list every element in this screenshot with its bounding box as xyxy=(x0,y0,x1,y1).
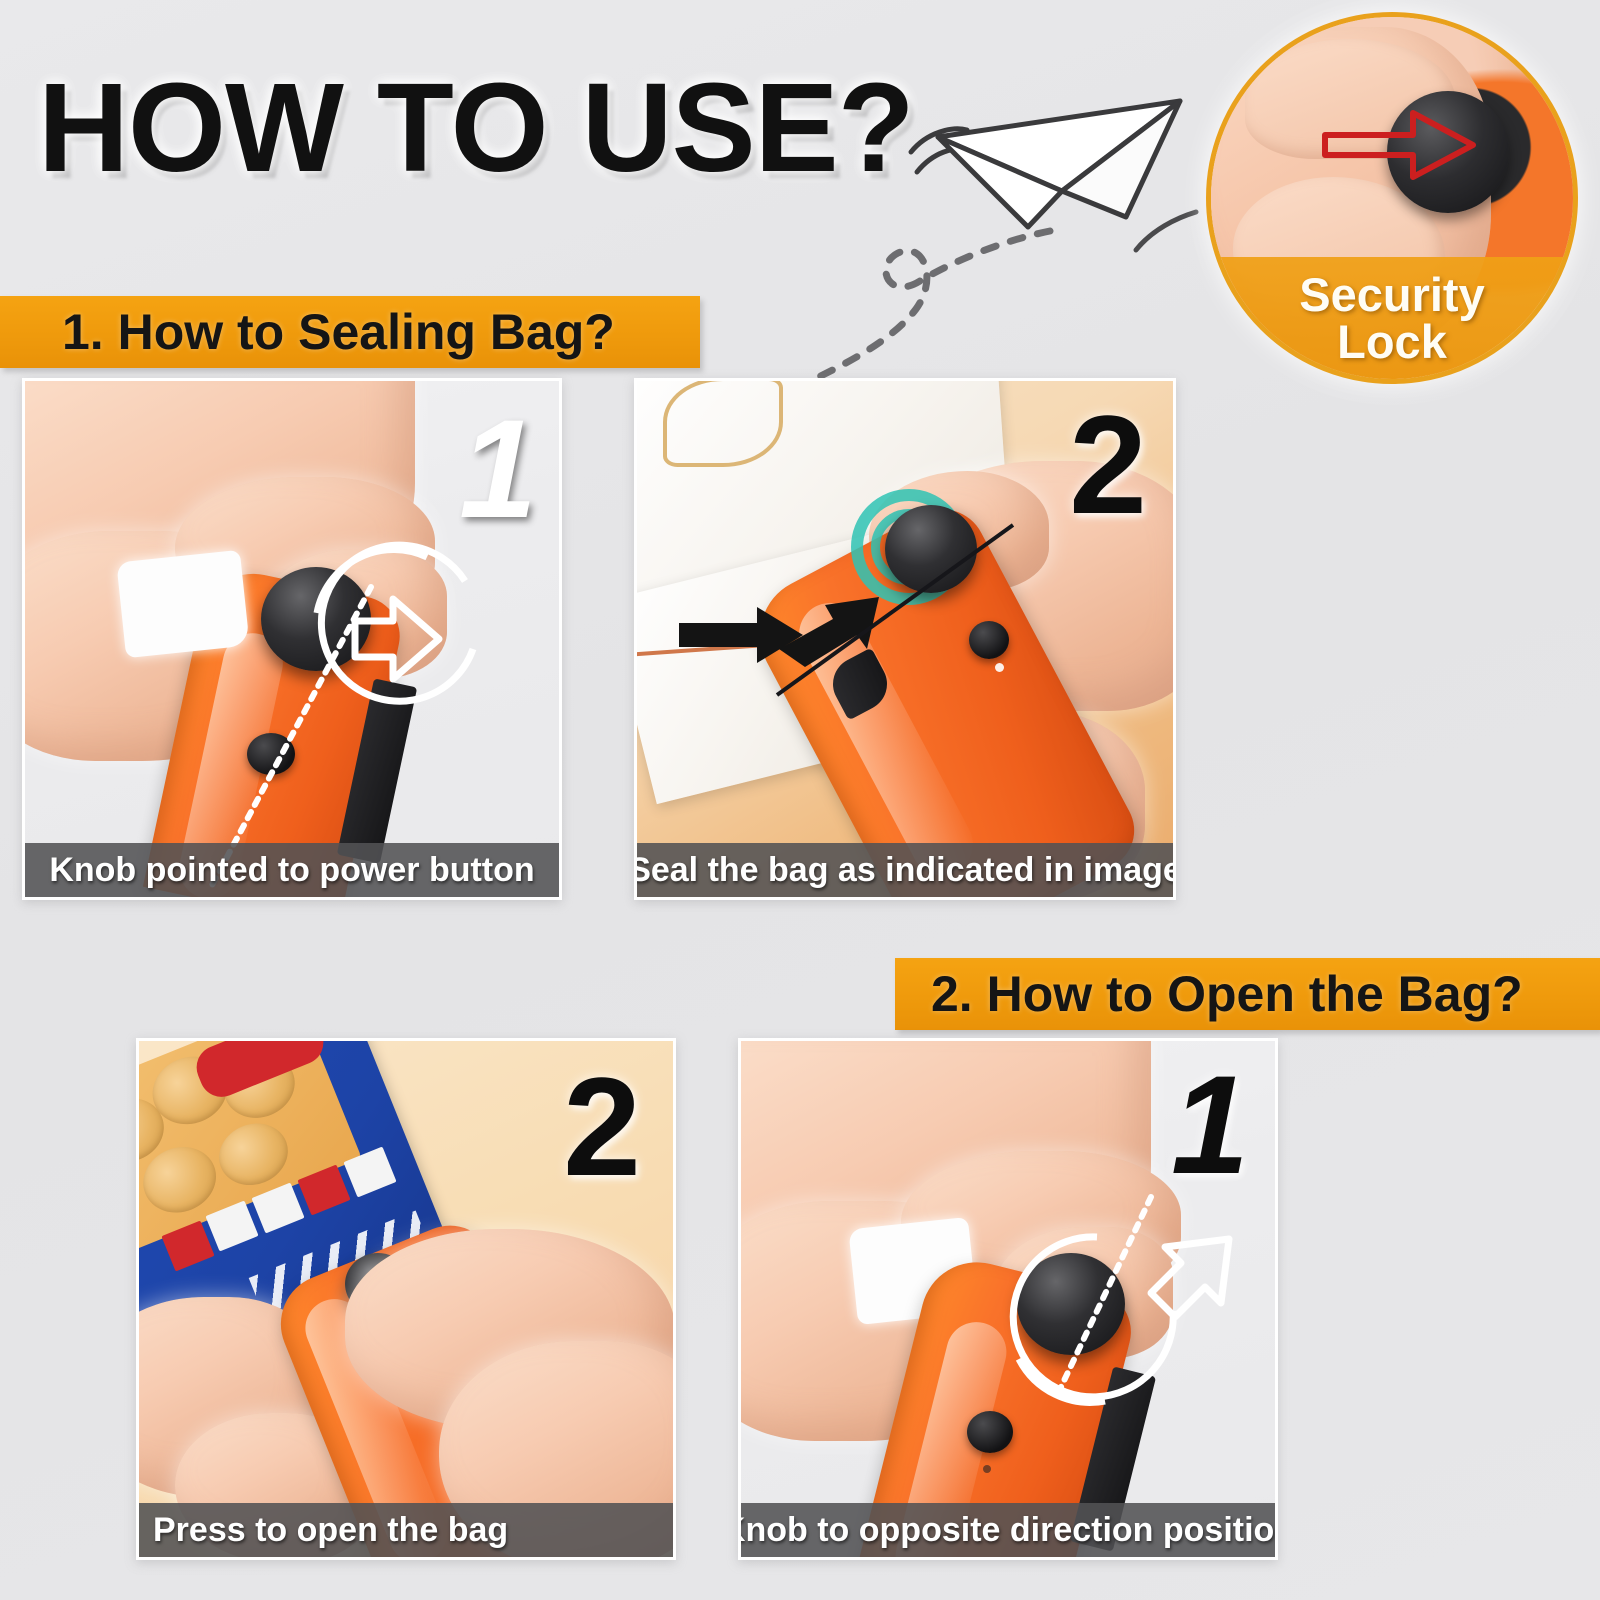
panel-caption-text: Knob to opposite direction position xyxy=(738,1511,1278,1550)
security-lock-banner: Security Lock xyxy=(1211,257,1573,379)
photo-knob-opposite: 1 xyxy=(741,1041,1275,1557)
step-number-badge: 2 xyxy=(1069,395,1143,535)
page-title: HOW TO USE? xyxy=(38,62,914,194)
step-number-badge: 1 xyxy=(1171,1055,1245,1195)
red-right-arrow-icon xyxy=(1321,105,1481,185)
step-number-badge: 1 xyxy=(459,399,533,539)
power-button xyxy=(967,1411,1013,1453)
panel-caption: Knob to opposite direction position xyxy=(741,1503,1275,1557)
cracker xyxy=(210,1113,297,1195)
power-button xyxy=(247,733,295,775)
panel-caption: Seal the bag as indicated in image xyxy=(637,843,1173,897)
photo-seal-bag: 2 xyxy=(637,381,1173,897)
step-photo-panel-4: 1 Knob to opposite direction position xyxy=(738,1038,1278,1560)
step-photo-panel-1: 1 Knob pointed to power button xyxy=(22,378,562,900)
led-indicator xyxy=(983,1465,991,1473)
power-button xyxy=(969,621,1009,659)
photo-knob-pointed: 1 xyxy=(25,381,559,897)
panel-caption: Press to open the bag xyxy=(139,1503,673,1557)
white-highlight xyxy=(116,550,249,658)
photo-press-open: 2 xyxy=(139,1041,673,1557)
led-indicator xyxy=(995,663,1004,672)
section-header-opening: 2. How to Open the Bag? xyxy=(895,958,1600,1030)
step-photo-panel-2: 2 Seal the bag as indicated in image xyxy=(634,378,1176,900)
infographic-canvas: HOW TO USE? Security Lock xyxy=(0,0,1600,1600)
security-lock-line2: Lock xyxy=(1337,318,1447,365)
security-lock-line1: Security xyxy=(1299,271,1484,318)
seal-direction-arrow-2-icon xyxy=(775,587,885,677)
dashed-trail-icon xyxy=(800,215,1060,395)
panel-caption-text: Knob pointed to power button xyxy=(49,851,534,890)
step-number-badge: 2 xyxy=(563,1057,637,1197)
security-lock-badge: Security Lock xyxy=(1206,12,1578,384)
device-knob xyxy=(261,567,371,671)
section-header-sealing-label: 1. How to Sealing Bag? xyxy=(62,303,615,361)
section-header-sealing: 1. How to Sealing Bag? xyxy=(0,296,700,368)
panel-caption-text: Seal the bag as indicated in image xyxy=(634,851,1176,890)
panel-caption-text: Press to open the bag xyxy=(153,1511,508,1550)
device-knob xyxy=(1017,1253,1125,1355)
section-header-opening-label: 2. How to Open the Bag? xyxy=(931,965,1523,1023)
device-knob xyxy=(885,505,977,593)
step-photo-panel-3: 2 Press to open the bag xyxy=(136,1038,676,1560)
panel-caption: Knob pointed to power button xyxy=(25,843,559,897)
bag-print-logo xyxy=(663,378,783,467)
